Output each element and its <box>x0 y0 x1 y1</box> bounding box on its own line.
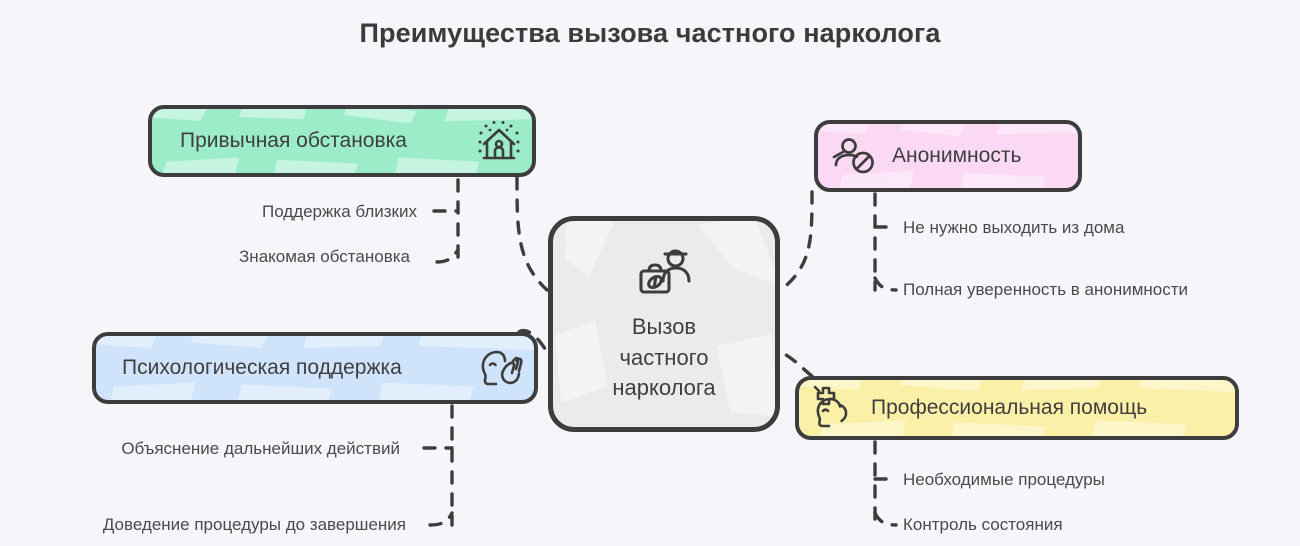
head-with-medical-cross-icon <box>809 385 857 431</box>
central-label: Вызов частного нарколога <box>612 312 715 403</box>
sub-label-blue-1: Объяснение дальнейших действий <box>121 440 400 457</box>
sub-label-yellow-1: Необходимые процедуры <box>903 471 1105 488</box>
mindmap-canvas: Преимущества вызова частного нарколога <box>0 0 1300 546</box>
house-with-family-icon <box>476 118 522 164</box>
link-pink-to-central <box>781 192 812 290</box>
sub-label-blue-2: Доведение процедуры до завершения <box>103 516 406 533</box>
branch-node-blue[interactable]: Психологическая поддержка <box>92 332 538 404</box>
sub-label-pink-2: Полная уверенность в анонимности <box>903 281 1188 298</box>
central-node[interactable]: Вызов частного нарколога <box>548 216 780 432</box>
link-blue-sub2 <box>430 513 452 525</box>
sub-label-pink-1: Не нужно выходить из дома <box>903 219 1124 236</box>
branch-label-blue: Психологическая поддержка <box>122 356 402 380</box>
page-title: Преимущества вызова частного нарколога <box>0 18 1300 49</box>
branch-label-pink: Анонимность <box>892 144 1021 168</box>
sub-label-green-2: Знакомая обстановка <box>239 248 410 265</box>
head-with-supporting-hand-icon <box>478 347 524 389</box>
branch-label-yellow: Профессиональная помощь <box>871 396 1147 420</box>
link-green-sub2 <box>437 250 458 262</box>
branch-node-pink[interactable]: Анонимность <box>814 120 1082 192</box>
branch-node-green[interactable]: Привычная обстановка <box>148 105 536 177</box>
link-yellow-sub2 <box>875 513 896 525</box>
sub-label-green-1: Поддержка близких <box>262 203 417 220</box>
link-green-to-central <box>517 178 547 290</box>
link-pink-sub2 <box>875 278 896 290</box>
link-yellow-to-central <box>781 352 812 376</box>
branch-label-green: Привычная обстановка <box>180 129 407 153</box>
sub-label-yellow-2: Контроль состояния <box>903 516 1063 533</box>
doctor-with-medical-bag-icon <box>632 244 696 302</box>
anonymous-person-blocked-icon <box>832 135 878 177</box>
branch-node-yellow[interactable]: Профессиональная помощь <box>795 376 1239 440</box>
